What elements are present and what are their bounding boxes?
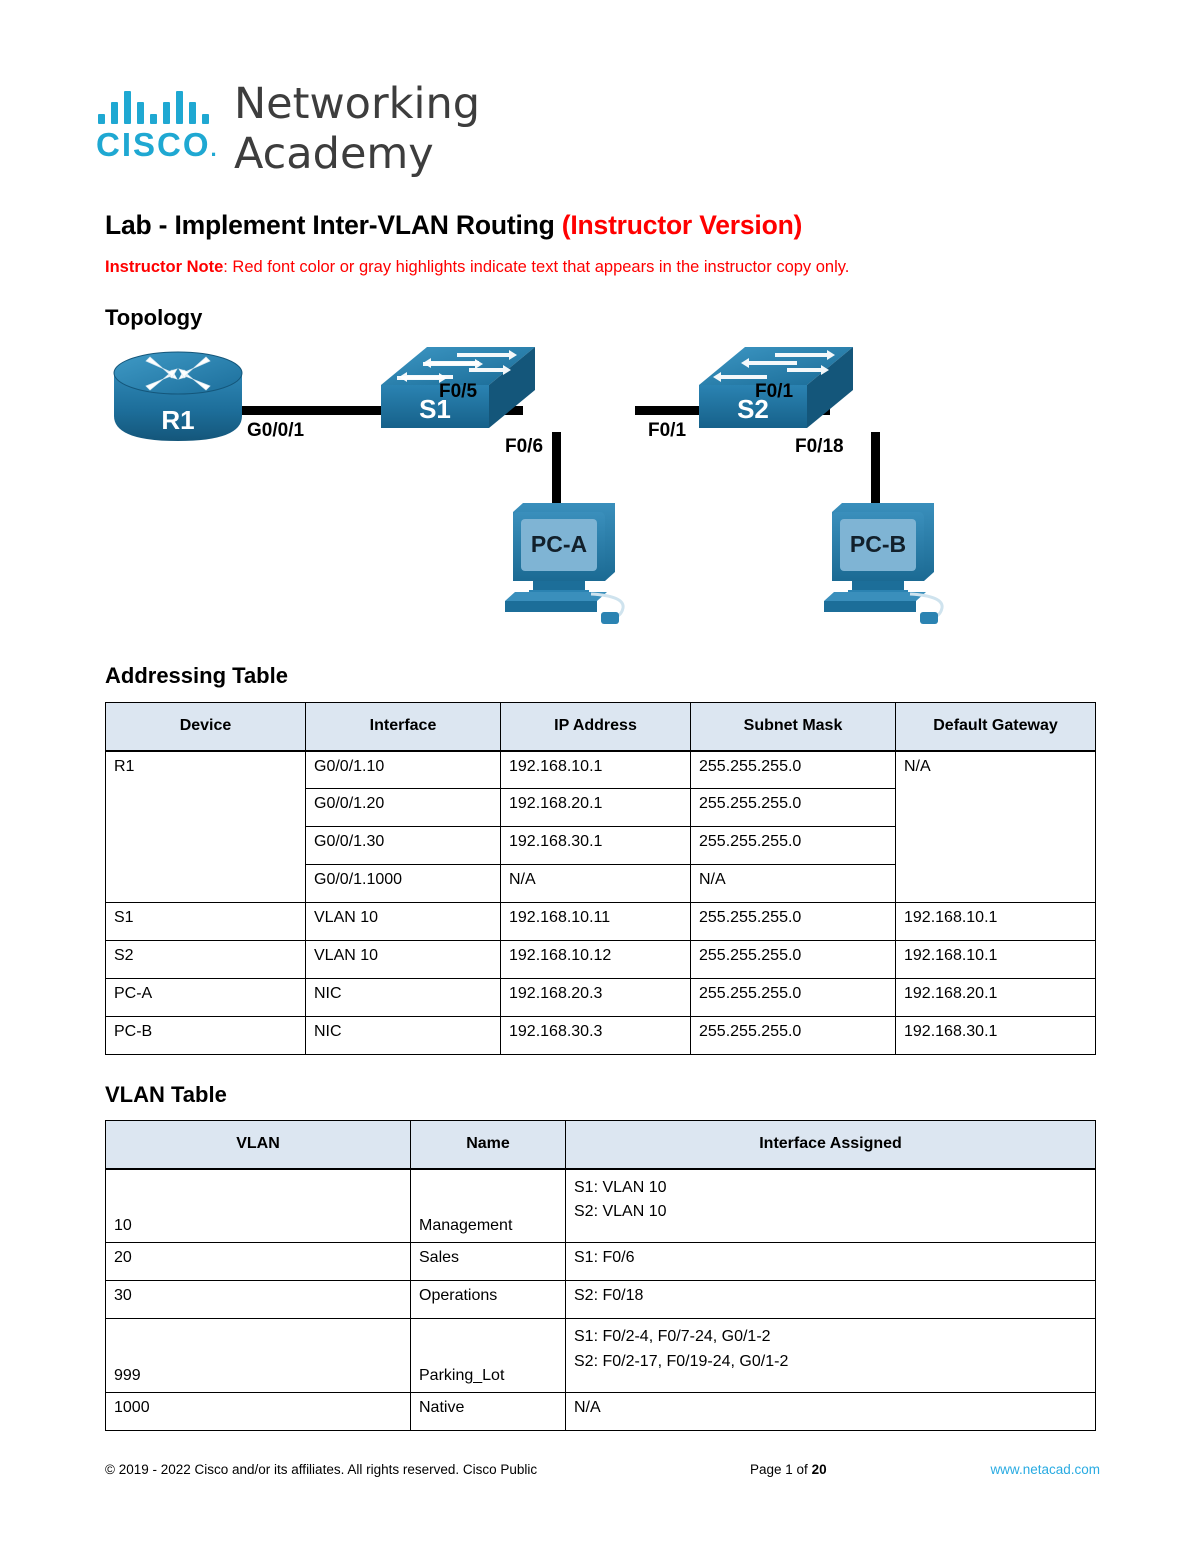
cell-interface: VLAN 10 [306, 941, 501, 979]
cell-gateway: 192.168.20.1 [896, 979, 1096, 1017]
cell-gateway: 192.168.10.1 [896, 903, 1096, 941]
instructor-note: Instructor Note: Red font color or gray … [105, 258, 849, 277]
label-s1-f0-1: F0/1 [648, 420, 686, 441]
table-row: S2 VLAN 10 192.168.10.12 255.255.255.0 1… [106, 941, 1096, 979]
device-router-r1: R1 [114, 352, 242, 441]
cell-device: S2 [106, 941, 306, 979]
footer-page-number: Page 1 of 20 [750, 1462, 827, 1477]
cell-interface: G0/0/1.20 [306, 789, 501, 827]
page-title-instructor-tag: (Instructor Version) [562, 210, 802, 240]
cell-mask: N/A [691, 865, 896, 903]
cell-ip: 192.168.30.1 [501, 827, 691, 865]
cell-device: PC-B [106, 1017, 306, 1055]
cell-vlan-interfaces-line2: S2: VLAN 10 [574, 1200, 1087, 1225]
cell-ip: 192.168.10.12 [501, 941, 691, 979]
cell-vlan-name: Management [411, 1169, 566, 1243]
device-pc-b: PC-B [824, 503, 942, 624]
addressing-header-interface: Interface [306, 703, 501, 751]
cell-vlan-name: Native [411, 1393, 566, 1431]
cisco-bridge-icon [98, 88, 218, 124]
logo-academy-text: Academy [234, 128, 434, 180]
vlan-header-vlan: VLAN [106, 1121, 411, 1169]
cell-vlan-interfaces: S1: F0/2-4, F0/7-24, G0/1-2 S2: F0/2-17,… [566, 1319, 1096, 1393]
table-row: PC-B NIC 192.168.30.3 255.255.255.0 192.… [106, 1017, 1096, 1055]
vlan-table: VLAN Name Interface Assigned 10 Manageme… [105, 1120, 1096, 1431]
cell-ip: 192.168.20.1 [501, 789, 691, 827]
section-heading-addressing-table: Addressing Table [105, 663, 288, 689]
section-heading-vlan-table: VLAN Table [105, 1082, 227, 1108]
cell-gateway: N/A [896, 751, 1096, 903]
table-row: 20 Sales S1: F0/6 [106, 1243, 1096, 1281]
page-title: Lab - Implement Inter-VLAN Routing (Inst… [105, 210, 802, 241]
cell-mask: 255.255.255.0 [691, 751, 896, 789]
section-heading-topology: Topology [105, 305, 202, 331]
addressing-header-ip-address: IP Address [501, 703, 691, 751]
cell-vlan-interfaces: S2: F0/18 [566, 1281, 1096, 1319]
cell-vlan-name: Operations [411, 1281, 566, 1319]
instructor-note-text: : Red font color or gray highlights indi… [223, 258, 849, 276]
device-pc-a: PC-A [505, 503, 623, 624]
label-f0-18: F0/18 [795, 436, 844, 457]
table-row: 999 Parking_Lot S1: F0/2-4, F0/7-24, G0/… [106, 1319, 1096, 1393]
table-row: R1 G0/0/1.10 192.168.10.1 255.255.255.0 … [106, 751, 1096, 789]
vlan-header-name: Name [411, 1121, 566, 1169]
label-g0-0-1: G0/0/1 [247, 420, 304, 441]
topology-diagram: R1 S1 S2 PC-A [105, 340, 1100, 645]
cell-interface: VLAN 10 [306, 903, 501, 941]
cell-gateway: 192.168.30.1 [896, 1017, 1096, 1055]
cell-mask: 255.255.255.0 [691, 941, 896, 979]
addressing-table-header-row: Device Interface IP Address Subnet Mask … [106, 703, 1096, 751]
cell-vlan-id: 999 [106, 1319, 411, 1393]
cell-ip: 192.168.30.3 [501, 1017, 691, 1055]
cell-vlan-interfaces: S1: VLAN 10 S2: VLAN 10 [566, 1169, 1096, 1243]
label-f0-6: F0/6 [505, 436, 543, 457]
cell-vlan-id: 1000 [106, 1393, 411, 1431]
logo-networking-text: Networking [234, 78, 480, 130]
cell-ip: N/A [501, 865, 691, 903]
cell-vlan-interfaces: N/A [566, 1393, 1096, 1431]
link-s2-pcb [871, 432, 880, 514]
table-row: 10 Management S1: VLAN 10 S2: VLAN 10 [106, 1169, 1096, 1243]
addressing-header-subnet-mask: Subnet Mask [691, 703, 896, 751]
cell-interface: G0/0/1.1000 [306, 865, 501, 903]
cell-interface: NIC [306, 979, 501, 1017]
label-s2-f0-1: F0/1 [755, 381, 793, 402]
cell-mask: 255.255.255.0 [691, 979, 896, 1017]
cell-ip: 192.168.10.11 [501, 903, 691, 941]
label-f0-5: F0/5 [439, 381, 477, 402]
cell-ip: 192.168.10.1 [501, 751, 691, 789]
cell-device: R1 [106, 751, 306, 903]
footer-url-link[interactable]: www.netacad.com [990, 1462, 1100, 1477]
cell-mask: 255.255.255.0 [691, 1017, 896, 1055]
addressing-table: Device Interface IP Address Subnet Mask … [105, 702, 1096, 1055]
cell-mask: 255.255.255.0 [691, 903, 896, 941]
device-label-r1: R1 [161, 405, 194, 435]
table-row: S1 VLAN 10 192.168.10.11 255.255.255.0 1… [106, 903, 1096, 941]
instructor-note-label: Instructor Note [105, 258, 223, 276]
cell-vlan-interfaces-line2: S2: F0/2-17, F0/19-24, G0/1-2 [574, 1350, 1087, 1375]
cell-vlan-id: 10 [106, 1169, 411, 1243]
footer-copyright: © 2019 - 2022 Cisco and/or its affiliate… [105, 1462, 537, 1477]
cell-ip: 192.168.20.3 [501, 979, 691, 1017]
footer-page-total: 20 [812, 1462, 827, 1477]
page-footer: © 2019 - 2022 Cisco and/or its affiliate… [105, 1462, 1100, 1484]
table-row: 1000 Native N/A [106, 1393, 1096, 1431]
footer-page-prefix: Page 1 of [750, 1462, 812, 1477]
cell-vlan-interfaces-line1: S1: VLAN 10 [574, 1176, 1087, 1201]
cell-mask: 255.255.255.0 [691, 827, 896, 865]
link-s1-pca [552, 432, 561, 514]
cell-vlan-id: 20 [106, 1243, 411, 1281]
cisco-wordmark: CISCO. [96, 126, 219, 164]
vlan-header-interface-assigned: Interface Assigned [566, 1121, 1096, 1169]
cell-vlan-id: 30 [106, 1281, 411, 1319]
table-row: PC-A NIC 192.168.20.3 255.255.255.0 192.… [106, 979, 1096, 1017]
cell-vlan-name: Sales [411, 1243, 566, 1281]
cell-vlan-name: Parking_Lot [411, 1319, 566, 1393]
cell-gateway: 192.168.10.1 [896, 941, 1096, 979]
addressing-header-default-gateway: Default Gateway [896, 703, 1096, 751]
cisco-wordmark-dot: . [211, 136, 219, 161]
cell-interface: G0/0/1.30 [306, 827, 501, 865]
cell-vlan-interfaces-line1: S1: F0/2-4, F0/7-24, G0/1-2 [574, 1325, 1087, 1350]
cell-device: S1 [106, 903, 306, 941]
vlan-table-header-row: VLAN Name Interface Assigned [106, 1121, 1096, 1169]
cell-mask: 255.255.255.0 [691, 789, 896, 827]
cell-interface: NIC [306, 1017, 501, 1055]
addressing-header-device: Device [106, 703, 306, 751]
cisco-networking-academy-logo: CISCO. Networking Academy [88, 78, 508, 188]
cell-vlan-interfaces: S1: F0/6 [566, 1243, 1096, 1281]
cell-device: PC-A [106, 979, 306, 1017]
device-label-pc-b: PC-B [850, 531, 906, 557]
page-title-main: Lab - Implement Inter-VLAN Routing [105, 210, 562, 240]
device-label-pc-a: PC-A [531, 531, 587, 557]
table-row: 30 Operations S2: F0/18 [106, 1281, 1096, 1319]
cell-interface: G0/0/1.10 [306, 751, 501, 789]
cisco-wordmark-text: CISCO [96, 126, 211, 163]
